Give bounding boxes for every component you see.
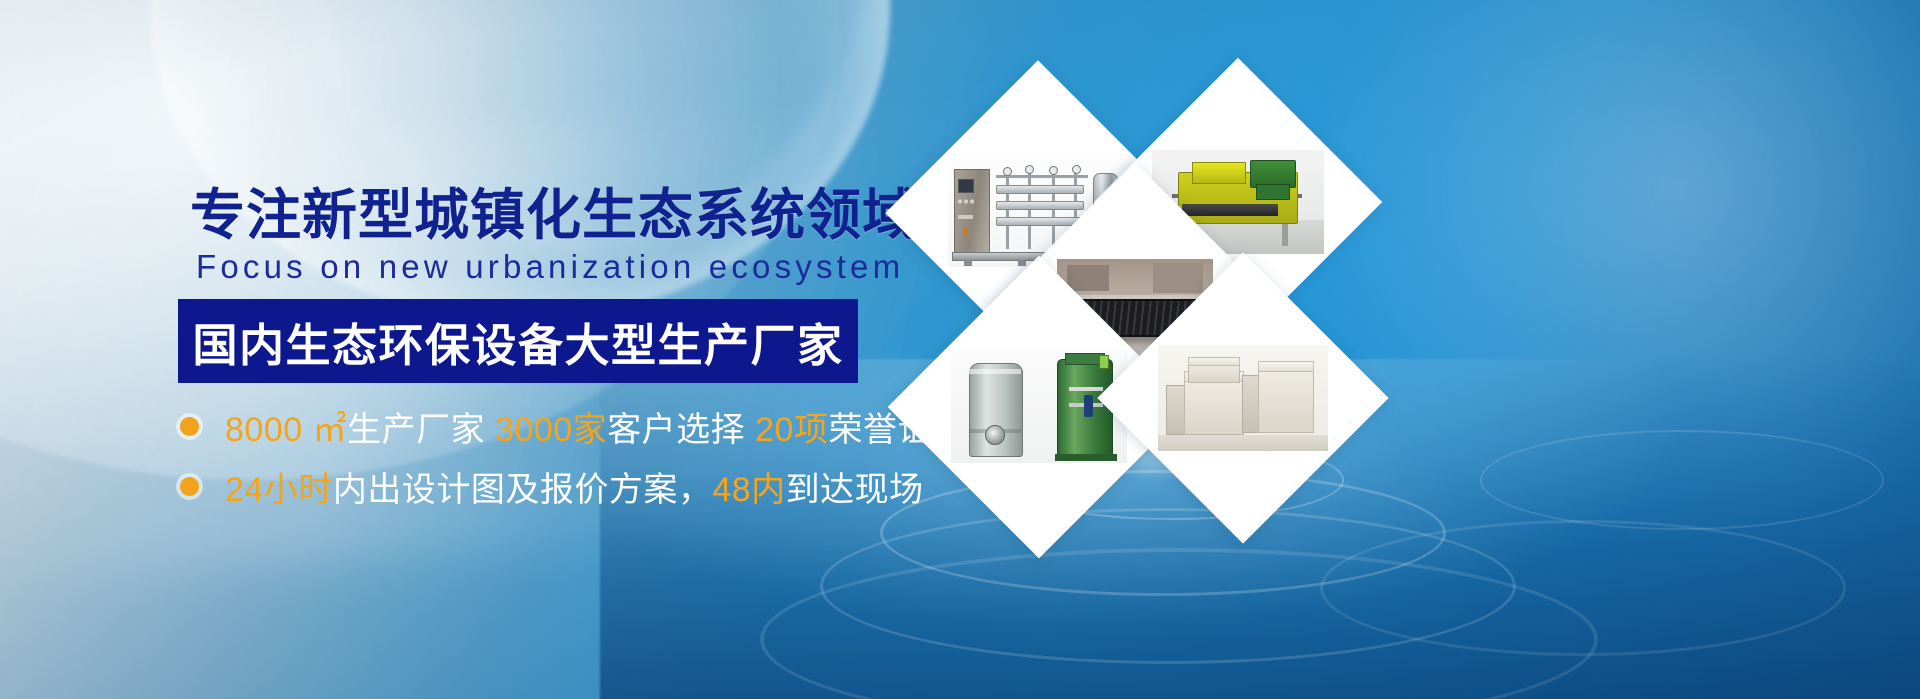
product-photo-aac-block-stack — [1158, 345, 1328, 451]
bullet-plain: 生产厂家 — [347, 411, 495, 449]
bullet-text: 24小时内出设计图及报价方案，48内到达现场 — [225, 462, 924, 511]
bullet-text: 8000 ㎡生产厂家 3000家客户选择 20项荣誉证书 — [225, 402, 966, 451]
list-item: 24小时内出设计图及报价方案，48内到达现场 — [180, 460, 900, 512]
bullet-emphasis: 24小时 — [225, 471, 333, 509]
banner-text-block: 专注新型城镇化生态系统领域 Focus on new urbanization … — [0, 0, 900, 699]
list-item: 8000 ㎡生产厂家 3000家客户选择 20项荣誉证书 — [180, 400, 900, 452]
product-diamond-gallery — [900, 0, 1920, 699]
banner-subheadline-english: Focus on new urbanization ecosystem — [196, 248, 904, 286]
banner-highlight-box: 国内生态环保设备大型生产厂家 — [178, 299, 858, 383]
bullet-emphasis: 3000家 — [495, 411, 607, 449]
bullet-emphasis: 48内 — [712, 471, 785, 509]
banner-highlight-box-text: 国内生态环保设备大型生产厂家 — [192, 309, 843, 374]
product-photo-vertical-tanks — [951, 351, 1127, 463]
banner-headline: 专注新型城镇化生态系统领域 — [190, 186, 918, 245]
bullet-emphasis: 20项 — [755, 411, 828, 449]
banner-bullet-list: 8000 ㎡生产厂家 3000家客户选择 20项荣誉证书 24小时内出设计图及报… — [180, 400, 900, 520]
bullet-dot-icon — [180, 477, 199, 496]
bullet-dot-icon — [180, 417, 199, 436]
bullet-plain: 内出设计图及报价方案， — [333, 471, 713, 509]
hero-banner: 专注新型城镇化生态系统领域 Focus on new urbanization … — [0, 0, 1920, 699]
bullet-plain: 客户选择 — [607, 411, 755, 449]
bullet-emphasis: 8000 ㎡ — [225, 411, 347, 449]
